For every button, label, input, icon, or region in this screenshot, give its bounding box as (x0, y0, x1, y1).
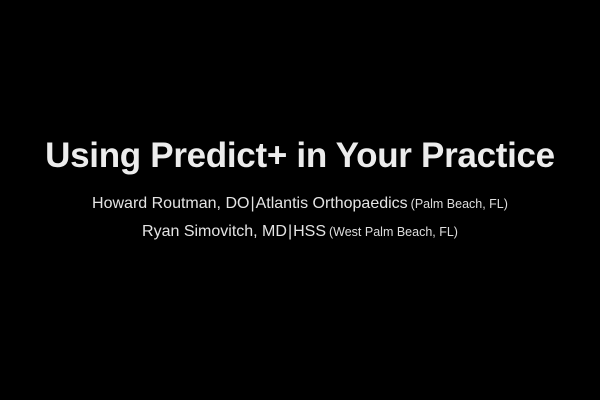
presenter-name: Ryan Simovitch, MD (142, 223, 287, 240)
page-title: Using Predict+ in Your Practice (0, 136, 600, 176)
presenter-line: Howard Routman, DO|Atlantis Orthopaedics… (0, 190, 600, 218)
presenter-line: Ryan Simovitch, MD|HSS(West Palm Beach, … (0, 218, 600, 246)
presenter-name: Howard Routman, DO (92, 195, 249, 212)
presenter-list: Howard Routman, DO|Atlantis Orthopaedics… (0, 190, 600, 246)
title-block: Using Predict+ in Your Practice (0, 136, 600, 176)
presenter-location: (Palm Beach, FL) (408, 197, 508, 211)
presenter-affiliation: Atlantis Orthopaedics (256, 195, 408, 212)
presenter-location: (West Palm Beach, FL) (326, 225, 458, 239)
title-slide: Using Predict+ in Your Practice Howard R… (0, 0, 600, 400)
presenter-affiliation: HSS (293, 223, 326, 240)
